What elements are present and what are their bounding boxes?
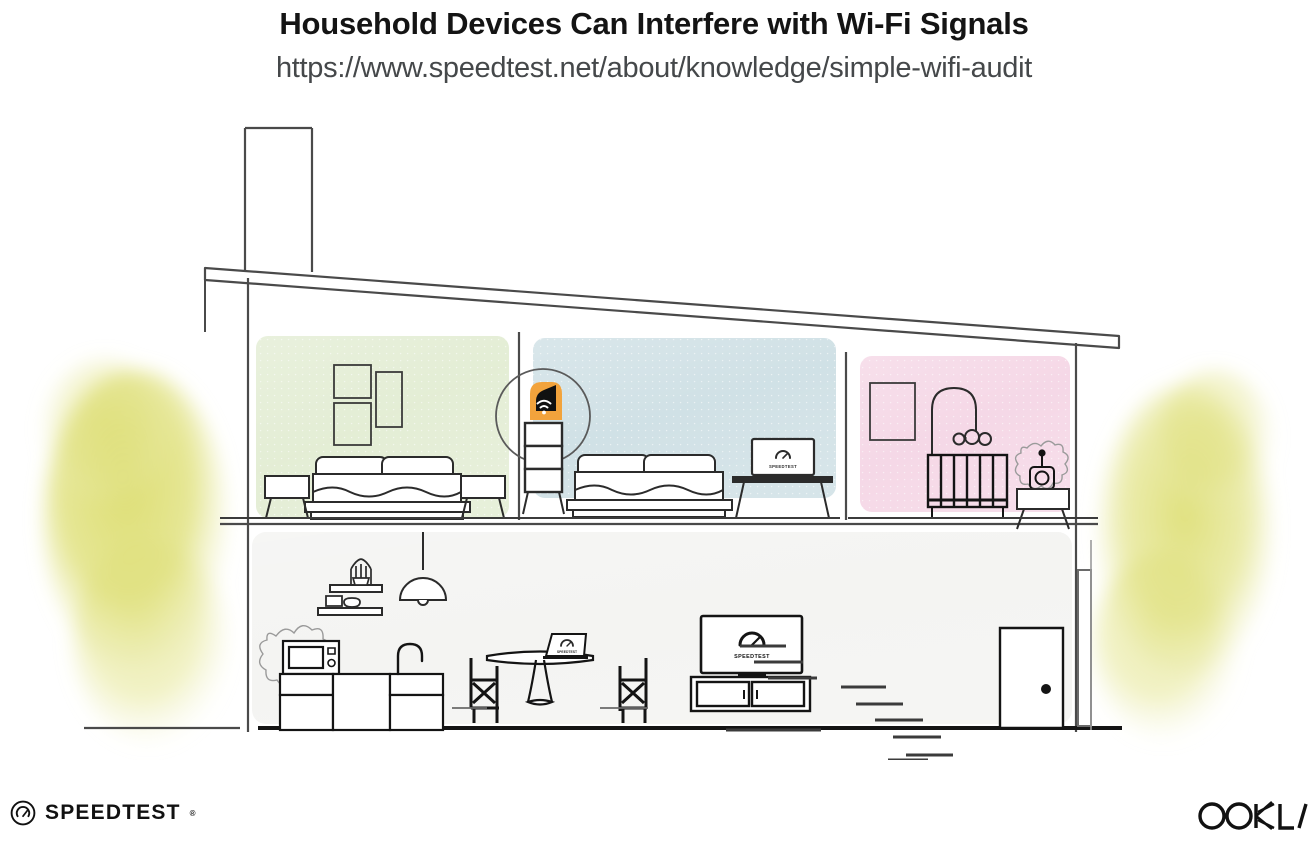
infographic-canvas: Household Devices Can Interfere with Wi-… [0,0,1308,861]
page-url: https://www.speedtest.net/about/knowledg… [0,52,1308,85]
shelf-unit-center [523,423,564,514]
speedtest-logo: SPEEDTEST ® [10,800,196,826]
speedtest-wordmark: SPEEDTEST [45,801,181,825]
wifi-router[interactable] [530,382,562,420]
wifi-dot [542,411,546,415]
bed-center [567,455,732,517]
ookla-logo [1196,798,1308,839]
front-door[interactable] [1000,628,1063,728]
ookla-wordmark-icon [1196,798,1308,834]
speedtest-trademark: ® [190,809,196,818]
kitchen-cabinets [280,674,443,730]
sidelight-window [1078,570,1091,726]
page-title: Household Devices Can Interfere with Wi-… [0,6,1308,42]
staircase-lower [726,730,928,760]
microwave[interactable] [283,641,339,674]
bed-left [305,457,470,519]
monitor-screen-label: SPEEDTEST [769,464,797,469]
media-console [691,677,810,711]
tv-screen-label: SPEEDTEST [734,654,770,660]
speedtest-gauge-icon-footer [10,800,36,826]
desktop-monitor[interactable]: SPEEDTEST [752,439,814,478]
laptop-screen-label: SPEEDTEST [557,650,578,654]
foliage-right [1093,370,1273,740]
foliage-left [43,358,228,745]
footer: SPEEDTEST ® [0,760,1308,861]
door-knob-icon [1041,684,1051,694]
chimney [245,128,312,275]
house-cutaway-illustration: SPEEDTEST [0,100,1308,760]
